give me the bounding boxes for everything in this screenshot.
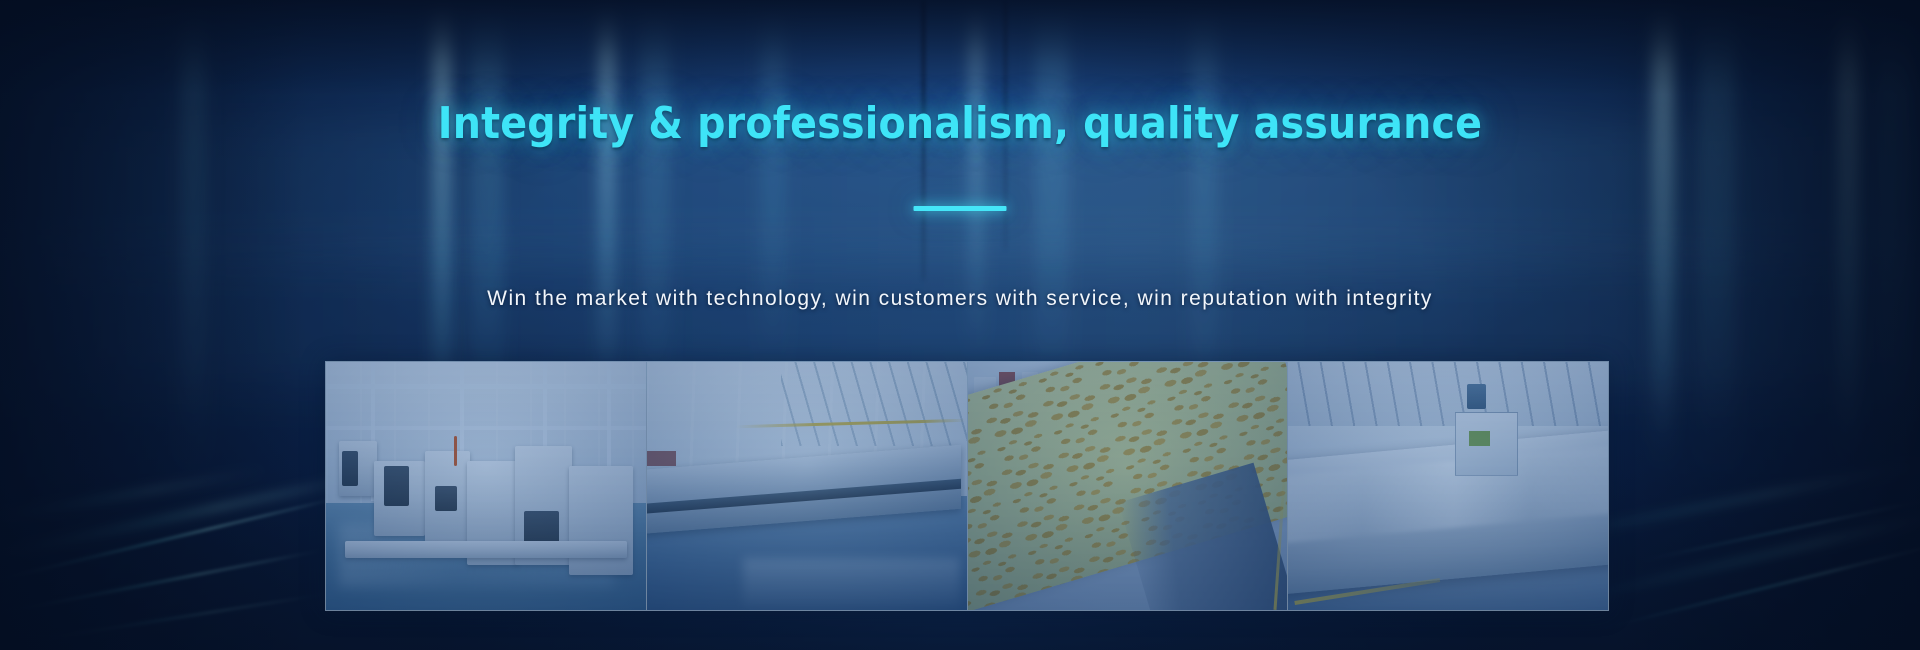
tunnel-oven-photo <box>1288 362 1608 610</box>
page-subtitle: Win the market with technology, win cust… <box>0 284 1920 314</box>
hero-banner: Integrity & professionalism, quality ass… <box>0 0 1920 650</box>
biscuit-conveyor-photo <box>968 362 1288 610</box>
conveyor-hall-photo <box>647 362 967 610</box>
page-title: Integrity & professionalism, quality ass… <box>0 96 1920 152</box>
gallery-item-1[interactable] <box>326 362 647 610</box>
gallery-item-2[interactable] <box>647 362 968 610</box>
gallery-item-4[interactable] <box>1288 362 1608 610</box>
gallery-strip <box>325 361 1609 611</box>
factory-machine-line-photo <box>326 362 646 610</box>
gallery-item-3[interactable] <box>968 362 1289 610</box>
title-divider <box>914 206 1007 211</box>
